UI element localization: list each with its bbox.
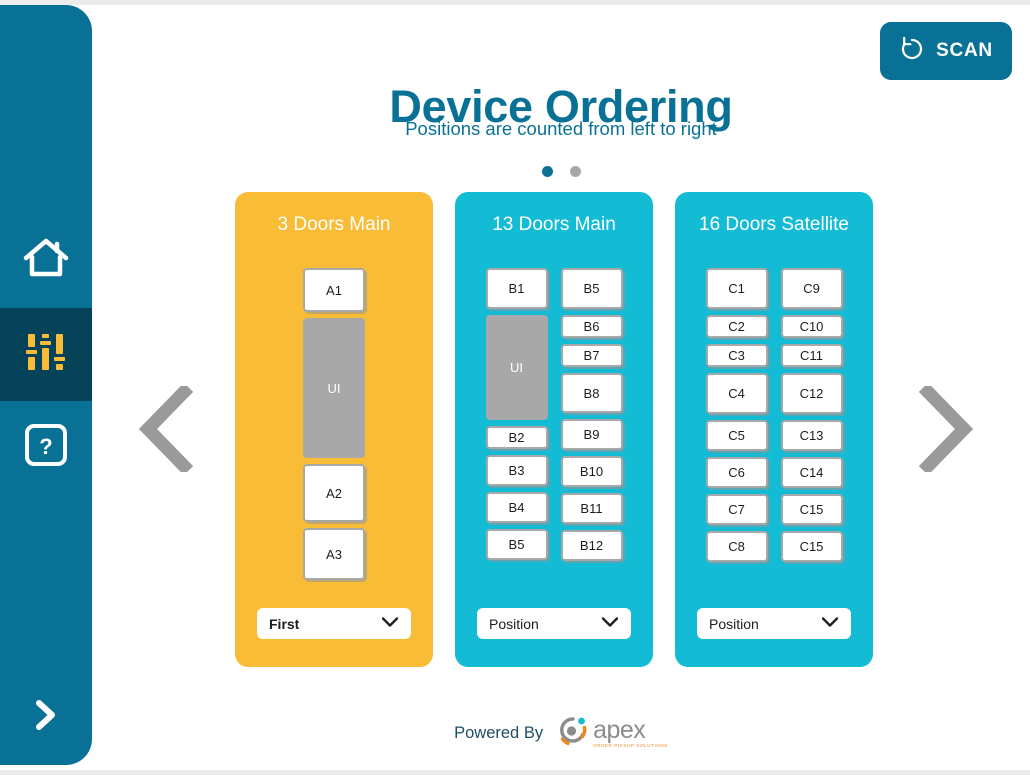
card-position-select[interactable]: Position xyxy=(697,608,851,639)
door-grid: A1UIA2A3 xyxy=(235,268,433,580)
door-tile[interactable]: C15 xyxy=(781,494,843,525)
carousel-next-button[interactable] xyxy=(910,387,980,475)
door-tile[interactable]: B6 xyxy=(561,315,623,338)
ui-block: UI xyxy=(303,318,365,458)
door-column: A1UIA2A3 xyxy=(303,268,365,580)
scan-button-label: SCAN xyxy=(936,40,993,62)
sidebar-item-help[interactable]: ? xyxy=(0,401,92,494)
chevron-down-icon xyxy=(381,615,399,633)
door-tile[interactable]: A3 xyxy=(303,528,365,580)
powered-by-label: Powered By xyxy=(454,724,543,743)
door-grid: B1UIB2B3B4B5B5B6B7B8B9B10B11B12 xyxy=(455,268,653,561)
card-title: 3 Doors Main xyxy=(235,214,433,236)
device-card: 3 Doors MainA1UIA2A3First xyxy=(235,192,433,667)
device-card: 13 Doors MainB1UIB2B3B4B5B5B6B7B8B9B10B1… xyxy=(455,192,653,667)
card-title: 16 Doors Satellite xyxy=(675,214,873,236)
sidebar-item-list: ? xyxy=(0,215,92,494)
door-tile[interactable]: C4 xyxy=(706,373,768,414)
rotate-ccw-icon xyxy=(899,36,925,67)
apex-tagline: ORDER PICKUP SOLUTIONS xyxy=(593,744,668,749)
apex-word: apex xyxy=(593,718,645,743)
door-tile[interactable]: B5 xyxy=(486,529,548,560)
door-tile[interactable]: A2 xyxy=(303,464,365,522)
door-tile[interactable]: A1 xyxy=(303,268,365,312)
door-column: C1C2C3C4C5C6C7C8 xyxy=(706,268,768,562)
door-tile[interactable]: B9 xyxy=(561,419,623,450)
svg-text:?: ? xyxy=(39,434,52,459)
chevron-right-icon xyxy=(914,386,976,477)
card-position-select-value: Position xyxy=(489,616,539,632)
door-tile[interactable]: B8 xyxy=(561,373,623,413)
door-tile[interactable]: C12 xyxy=(781,373,843,414)
door-tile[interactable]: B7 xyxy=(561,344,623,367)
card-position-select[interactable]: First xyxy=(257,608,411,639)
sidebar-item-device-ordering[interactable] xyxy=(0,308,92,401)
sidebar-expand-button[interactable] xyxy=(0,687,92,747)
card-position-select-value: First xyxy=(269,616,299,632)
question-icon: ? xyxy=(24,423,68,472)
door-tile[interactable]: B12 xyxy=(561,530,623,561)
ui-block: UI xyxy=(486,315,548,420)
sliders-icon xyxy=(25,332,67,377)
apex-mark-icon xyxy=(556,715,590,752)
carousel-prev-button[interactable] xyxy=(132,387,202,475)
door-tile[interactable]: B1 xyxy=(486,268,548,309)
door-tile[interactable]: B5 xyxy=(561,268,623,309)
door-tile[interactable]: C7 xyxy=(706,494,768,525)
sidebar: ? xyxy=(0,5,92,765)
door-tile[interactable]: C9 xyxy=(781,268,843,309)
app-root: ? SCAN Device Ordering Positions are cou… xyxy=(0,5,1030,770)
door-tile[interactable]: C10 xyxy=(781,315,843,338)
device-card: 16 Doors SatelliteC1C2C3C4C5C6C7C8C9C10C… xyxy=(675,192,873,667)
door-tile[interactable]: C11 xyxy=(781,344,843,367)
door-tile[interactable]: C8 xyxy=(706,531,768,562)
door-tile[interactable]: B11 xyxy=(561,493,623,524)
scan-button[interactable]: SCAN xyxy=(880,22,1012,80)
card-position-select[interactable]: Position xyxy=(477,608,631,639)
apex-logo: apex ORDER PICKUP SOLUTIONS xyxy=(556,715,668,752)
door-tile[interactable]: C14 xyxy=(781,457,843,488)
door-tile[interactable]: B2 xyxy=(486,426,548,449)
door-column: B5B6B7B8B9B10B11B12 xyxy=(561,268,623,561)
door-tile[interactable]: C5 xyxy=(706,420,768,451)
door-tile[interactable]: B10 xyxy=(561,456,623,487)
chevron-down-icon xyxy=(601,615,619,633)
door-tile[interactable]: B4 xyxy=(486,492,548,523)
window-chrome-bottom-edge xyxy=(0,770,1030,775)
device-cards-row: 3 Doors MainA1UIA2A3First13 Doors MainB1… xyxy=(235,192,873,667)
page-subtitle: Positions are counted from left to right xyxy=(92,118,1030,140)
apex-wordmark: apex ORDER PICKUP SOLUTIONS xyxy=(593,718,668,749)
door-tile[interactable]: C6 xyxy=(706,457,768,488)
door-column: C9C10C11C12C13C14C15C15 xyxy=(781,268,843,562)
chevron-down-icon xyxy=(821,615,839,633)
sidebar-item-home[interactable] xyxy=(0,215,92,308)
door-tile[interactable]: B3 xyxy=(486,455,548,486)
card-title: 13 Doors Main xyxy=(455,214,653,236)
door-tile[interactable]: C15 xyxy=(781,531,843,562)
pager-dots xyxy=(92,166,1030,177)
home-icon xyxy=(23,238,69,285)
door-column: B1UIB2B3B4B5 xyxy=(486,268,548,561)
footer: Powered By apex ORDER PICKUP SOLUTIONS xyxy=(92,715,1030,752)
chevron-left-icon xyxy=(136,386,198,477)
pager-dot-1[interactable] xyxy=(542,166,553,177)
card-position-select-value: Position xyxy=(709,616,759,632)
door-grid: C1C2C3C4C5C6C7C8C9C10C11C12C13C14C15C15 xyxy=(675,268,873,562)
door-tile[interactable]: C2 xyxy=(706,315,768,338)
door-tile[interactable]: C13 xyxy=(781,420,843,451)
door-tile[interactable]: C3 xyxy=(706,344,768,367)
door-tile[interactable]: C1 xyxy=(706,268,768,309)
chevron-right-icon xyxy=(31,698,61,737)
pager-dot-2[interactable] xyxy=(570,166,581,177)
